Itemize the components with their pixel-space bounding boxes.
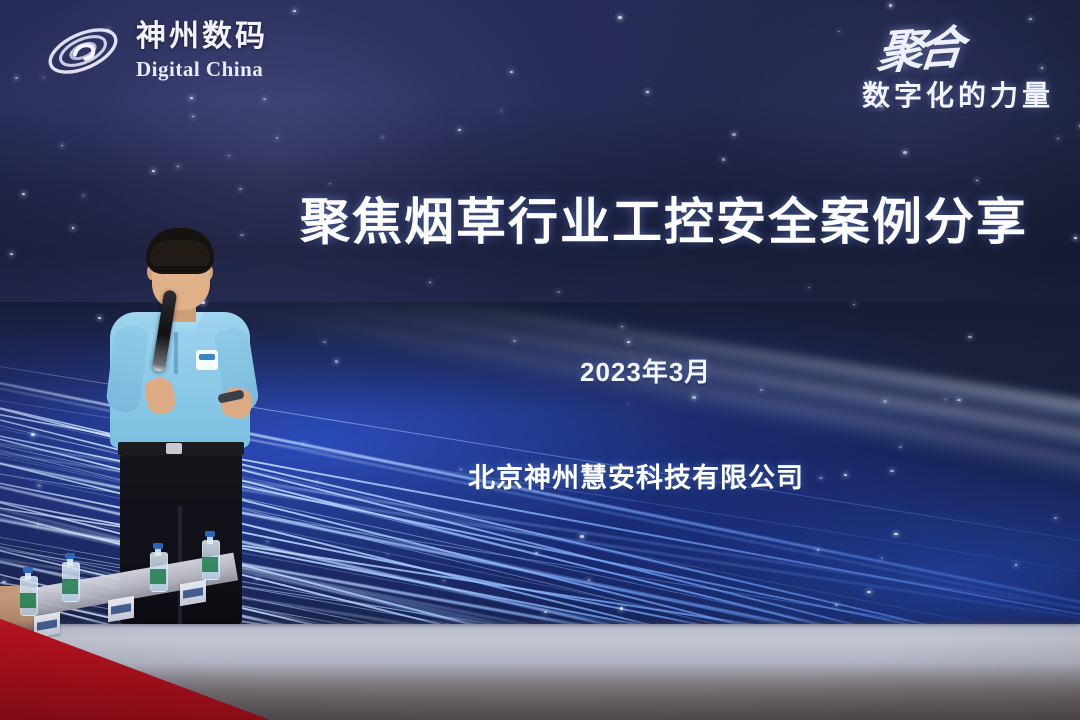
light-particle (620, 607, 624, 610)
light-particle (627, 341, 630, 343)
brand-name-en: Digital China (136, 59, 268, 80)
bottle-neck (207, 536, 213, 544)
light-particle (239, 188, 242, 190)
light-particle (535, 552, 538, 554)
stage-photo: 聚焦烟草行业工控安全案例分享 2023年3月 北京神州慧安科技有限公司 神州数码… (0, 0, 1080, 720)
light-particle (844, 474, 847, 476)
bottle-cap (65, 553, 75, 559)
bottle-cap (153, 543, 163, 549)
light-particle (890, 470, 894, 472)
light-particle (544, 611, 547, 613)
light-particle (510, 71, 513, 73)
light-particle (722, 158, 725, 160)
brand-text-block: 神州数码 Digital China (136, 22, 268, 80)
swirl-galaxy-icon (44, 22, 122, 80)
table-name-card (108, 596, 134, 623)
slogan-calligraphy: 聚合 (875, 11, 962, 82)
bottle-label (202, 557, 218, 572)
light-particle (15, 77, 18, 79)
foreground-table (0, 550, 270, 720)
water-bottle (20, 568, 36, 616)
speaker-belt-buckle (166, 443, 182, 454)
light-particle (976, 180, 978, 181)
light-particle (61, 145, 63, 146)
light-particle (192, 116, 194, 117)
light-particle (1074, 237, 1077, 239)
light-particle (335, 360, 339, 363)
bottle-label (150, 569, 166, 584)
light-particle (276, 137, 278, 138)
light-particle (458, 129, 460, 131)
light-particle (903, 151, 907, 154)
bottle-neck (155, 548, 161, 556)
bottle-neck (67, 558, 73, 566)
light-particle (899, 446, 902, 448)
light-particle (628, 404, 629, 405)
speaker-hair (146, 228, 214, 274)
event-slogan: 聚合 数字化的力量 (862, 14, 1054, 114)
speaker-chest-logo (196, 350, 218, 370)
bottle-label (62, 579, 78, 594)
water-bottle (202, 532, 218, 580)
light-particle (37, 484, 41, 487)
brand-name-cn: 神州数码 (136, 22, 268, 52)
light-particle (692, 396, 696, 398)
bottle-cap (23, 567, 33, 573)
light-particle (323, 341, 326, 343)
slide-company-name: 北京神州慧安科技有限公司 (468, 456, 804, 495)
water-bottle (62, 554, 78, 602)
light-particle (732, 133, 736, 136)
slide-date: 2023年3月 (580, 352, 711, 389)
light-particle (760, 389, 763, 391)
slide-title: 聚焦烟草行业工控安全案例分享 (300, 182, 1028, 254)
light-particle (808, 287, 810, 288)
speaker-placket (174, 332, 178, 374)
light-particle (513, 340, 516, 342)
table-name-card (180, 580, 206, 607)
water-bottle (150, 544, 166, 592)
brand-logo: 神州数码 Digital China (44, 22, 268, 80)
light-particle (618, 16, 622, 19)
bottle-cap (205, 531, 215, 537)
light-particle (267, 541, 268, 542)
bottle-label (20, 593, 36, 608)
light-particle (889, 4, 892, 6)
bottle-neck (25, 572, 31, 580)
light-particle (580, 535, 584, 538)
light-particle (646, 91, 649, 93)
